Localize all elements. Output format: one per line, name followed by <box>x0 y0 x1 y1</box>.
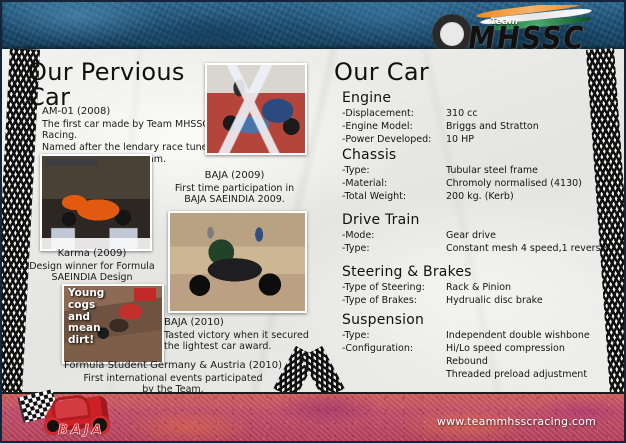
spec-value: Tubular steel frame <box>446 164 582 177</box>
caption-karma-line-1: Design winner for Formula <box>26 261 158 273</box>
spec-row: -Type: Tubular steel frame <box>342 164 582 177</box>
spec-value: Chromoly normalised (4130) <box>446 177 582 190</box>
spec-key: -Engine Model: <box>342 120 446 133</box>
spec-row: -Power Developed: 10 HP <box>342 133 539 146</box>
spec-key: -Power Developed: <box>342 133 446 146</box>
caption-baja2009-title: BAJA (2009) <box>162 170 307 183</box>
spec-key: -Type: <box>342 242 446 255</box>
spec-value: Gear drive <box>446 229 606 242</box>
spec-value: Briggs and Stratton <box>446 120 539 133</box>
baja-logo: BAJA <box>14 393 132 439</box>
spec-value: Hydrualic disc brake <box>446 294 543 307</box>
spec-row: -Engine Model: Briggs and Stratton <box>342 120 539 133</box>
spec-key: -Displacement: <box>342 107 446 120</box>
spec-row: -Displacement: 310 cc <box>342 107 539 120</box>
spec-group-suspension: Suspension -Type: Independent double wis… <box>342 312 590 381</box>
spec-key: -Configuration: <box>342 342 446 355</box>
spec-group-engine: Engine -Displacement: 310 cc -Engine Mod… <box>342 90 539 146</box>
caption-baja2010-line-1: Tasted victory when it secured <box>164 330 319 342</box>
spec-value: Rack & Pinion <box>446 281 543 294</box>
spec-row: -Type: Constant mesh 4 speed,1 reverse <box>342 242 606 255</box>
spec-value: 10 HP <box>446 133 539 146</box>
spec-value: Independent double wishbone <box>446 329 590 342</box>
spec-group-chassis: Chassis -Type: Tubular steel frame -Mate… <box>342 147 582 203</box>
spec-group-drive-train: Drive Train -Mode: Gear drive -Type: Con… <box>342 212 606 255</box>
spec-group-drive-train-title: Drive Train <box>342 212 606 228</box>
caption-baja2009-line-2: BAJA SAEINDIA 2009. <box>162 194 307 206</box>
caption-baja2009-line-1: First time participation in <box>162 183 307 195</box>
left-column-heading: Our Pervious Car <box>28 60 203 110</box>
spec-group-suspension-title: Suspension <box>342 312 590 328</box>
caption-fs-title: Formula Student Germany & Austria (2010) <box>48 360 298 373</box>
caption-baja2010-line-2: the lightest car award. <box>164 341 319 353</box>
poster-canvas: Team MHSSC Racing Our Pervious Car AM-01… <box>0 0 626 443</box>
baja-logo-word: BAJA <box>58 423 105 438</box>
caption-baja2009: BAJA (2009) First time participation in … <box>162 170 307 206</box>
spec-group-chassis-title: Chassis <box>342 147 582 163</box>
spec-group-steering-brakes: Steering & Brakes -Type of Steering: Rac… <box>342 264 543 307</box>
spec-key: -Type of Steering: <box>342 281 446 294</box>
caption-baja2010-title: BAJA (2010) <box>164 317 319 330</box>
spec-extra-line: Threaded preload adjustment <box>446 368 590 381</box>
spec-key: -Type: <box>342 164 446 177</box>
photo-am01-formula-car <box>205 63 307 155</box>
right-column-heading: Our Car <box>334 60 429 85</box>
spec-extra-line: Rebound <box>446 355 590 368</box>
spec-row: -Type of Steering: Rack & Pinion <box>342 281 543 294</box>
spec-group-steering-brakes-title: Steering & Brakes <box>342 264 543 280</box>
caption-karma-title: Karma (2009) <box>26 248 158 261</box>
spec-value: 200 kg. (Kerb) <box>446 190 582 203</box>
caption-formula-student: Formula Student Germany & Austria (2010)… <box>48 360 298 396</box>
spec-key: -Type of Brakes: <box>342 294 446 307</box>
spec-row: -Material: Chromoly normalised (4130) <box>342 177 582 190</box>
spec-group-engine-title: Engine <box>342 90 539 106</box>
caption-fs-line-1: First international events participated <box>48 373 298 385</box>
spec-row: -Mode: Gear drive <box>342 229 606 242</box>
photo-karma-car <box>40 154 152 251</box>
spec-key: -Mode: <box>342 229 446 242</box>
spec-key: -Material: <box>342 177 446 190</box>
spec-value: 310 cc <box>446 107 539 120</box>
spec-key: -Type: <box>342 329 446 342</box>
spec-value: Constant mesh 4 speed,1 reverse <box>446 242 606 255</box>
caption-baja2010: BAJA (2010) Tasted victory when it secur… <box>164 317 319 353</box>
photo-overlay-caption: Young cogs and mean dirt! <box>68 288 120 347</box>
spec-key: -Total Weight: <box>342 190 446 203</box>
spec-row: -Configuration: Hi/Lo speed compression <box>342 342 590 355</box>
photo-baja-2009-buggy <box>168 211 307 313</box>
spec-row: -Type of Brakes: Hydrualic disc brake <box>342 294 543 307</box>
spec-row: -Type: Independent double wishbone <box>342 329 590 342</box>
website-url[interactable]: www.teammhsscracing.com <box>437 415 596 428</box>
spec-row: -Total Weight: 200 kg. (Kerb) <box>342 190 582 203</box>
spec-value: Hi/Lo speed compression <box>446 342 590 355</box>
